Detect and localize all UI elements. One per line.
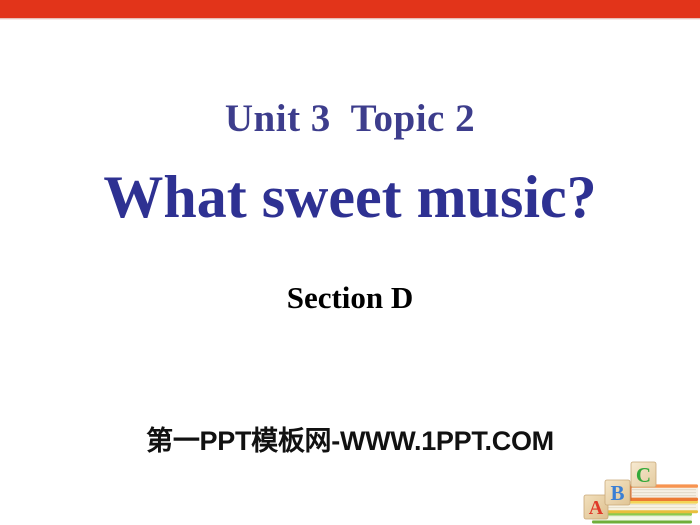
letter-a-glyph: A	[589, 497, 604, 519]
letter-b-glyph: B	[610, 481, 624, 505]
letter-block-a: A	[584, 495, 608, 519]
section-label: Section D	[0, 280, 700, 316]
top-accent-bar-shadow	[0, 18, 700, 20]
abc-books-illustration: A B C	[578, 459, 700, 525]
letter-block-b: B	[605, 480, 630, 505]
top-accent-bar	[0, 0, 700, 18]
letter-c-glyph: C	[636, 463, 651, 487]
unit-topic-heading: Unit 3 Topic 2	[0, 96, 700, 141]
letter-block-c: C	[631, 462, 656, 487]
page-title: What sweet music?	[0, 163, 700, 232]
watermark-text: 第一PPT模板网-WWW.1PPT.COM	[0, 419, 700, 458]
slide-canvas: Unit 3 Topic 2 What sweet music? Section…	[0, 0, 700, 525]
